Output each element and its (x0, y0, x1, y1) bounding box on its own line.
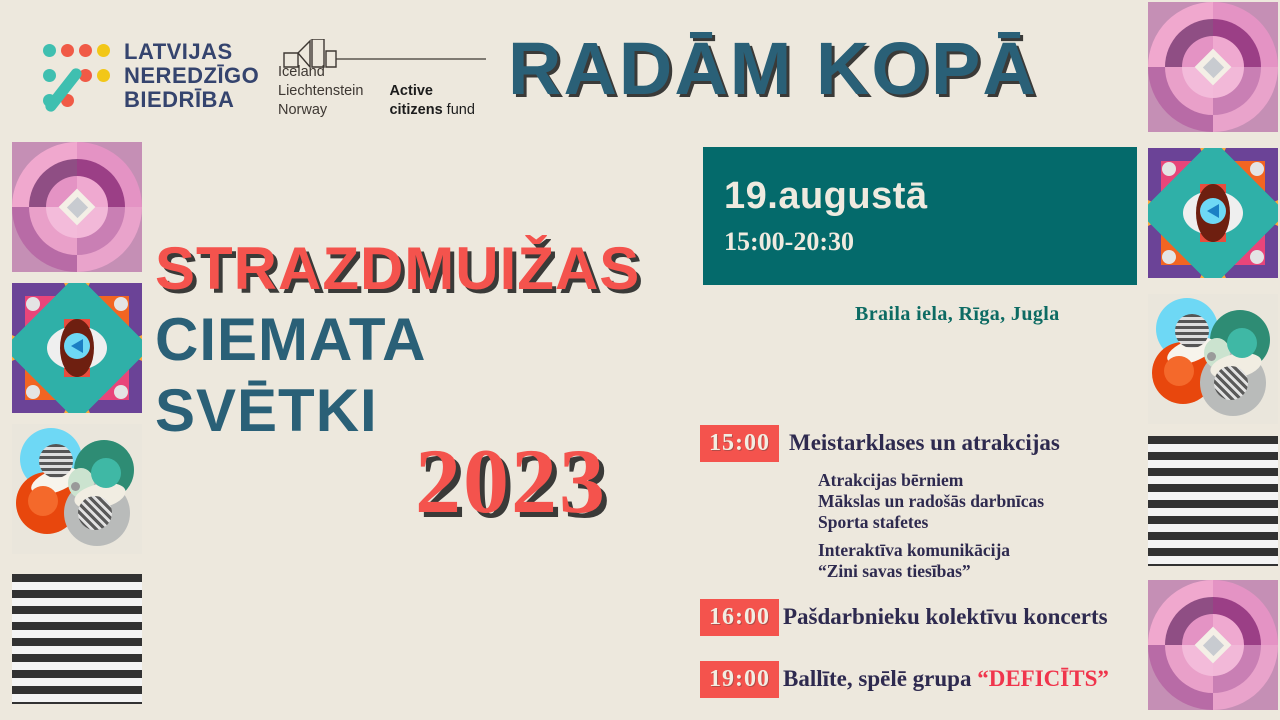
logo-wordmark-line3: BIEDRĪBA (124, 88, 259, 112)
schedule-item-1500: 15:00 Meistarklases un atrakcijas Atrakc… (700, 425, 1155, 582)
logo-wordmark-line1: LATVIJAS (124, 40, 259, 64)
logo-dot (97, 69, 110, 82)
play-triangle-icon (71, 339, 83, 353)
decor-tile-eye-left-1 (12, 283, 142, 413)
fund-name-fund: fund (443, 102, 475, 118)
decor-tile-zigzag-left-1 (12, 574, 142, 704)
decor-tile-pink-petal-left-1 (12, 142, 142, 272)
funder-country-norway: Norway (278, 101, 363, 120)
poster-canvas: LATVIJAS NEREDZĪGO BIEDRĪBA Iceland Liec… (0, 0, 1280, 720)
schedule-time-badge: 19:00 (700, 661, 779, 698)
acf-mountain-icon (282, 39, 487, 69)
schedule-item-1900: 19:00 Ballīte, spēlē grupa “DEFICĪTS” (700, 661, 1155, 698)
decor-tile-pink-petal-right-1 (1148, 2, 1278, 132)
latvijas-neredzigo-biedriba-logo: LATVIJAS NEREDZĪGO BIEDRĪBA (40, 38, 259, 113)
decor-tile-eye-right-1 (1148, 148, 1278, 278)
schedule-band-name: “DEFICĪTS” (977, 666, 1109, 691)
event-venue: Braila iela, Rīga, Jugla (855, 303, 1060, 326)
schedule-time-badge: 16:00 (700, 599, 779, 636)
headline-line-3: SVĒTKI (155, 376, 378, 445)
schedule-item-1600: 16:00 Pašdarbnieku kolektīvu koncerts (700, 599, 1155, 636)
schedule-sub-items: Atrakcijas bērniem Mākslas un radošās da… (818, 470, 1155, 582)
campaign-title: RADĀM KOPĀ (508, 26, 1038, 111)
schedule-sub-item: Mākslas un radošās darbnīcas (818, 491, 1155, 512)
funder-country-liechtenstein: Liechtenstein (278, 82, 363, 101)
schedule-item-title: Ballīte, spēlē grupa “DEFICĪTS” (783, 666, 1109, 692)
logo-dot (43, 44, 56, 57)
logo-dot (43, 69, 56, 82)
headline-line-1: STRAZDMUIŽAS (155, 234, 640, 303)
decor-tile-venn-left-1 (12, 424, 142, 554)
logo-dot (61, 44, 74, 57)
play-triangle-icon (1207, 204, 1219, 218)
schedule-title-text: Ballīte, spēlē grupa (783, 666, 977, 691)
funder-countries: Iceland Liechtenstein Norway (278, 63, 363, 120)
event-time-range: 15:00-20:30 (724, 227, 854, 257)
logo-dot-empty (79, 94, 92, 107)
schedule-sub-item: Atrakcijas bērniem (818, 470, 1155, 491)
logo-wordmark: LATVIJAS NEREDZĪGO BIEDRĪBA (124, 40, 259, 112)
headline-line-2: CIEMATA (155, 305, 426, 374)
sub-items-gap (818, 533, 1155, 540)
logo-dots-grid (40, 38, 112, 113)
decor-tile-pink-petal-right-2 (1148, 580, 1278, 710)
logo-dot (97, 44, 110, 57)
fund-name-active: Active (389, 83, 433, 99)
event-date: 19.augustā (724, 175, 928, 218)
active-citizens-fund-logo: Iceland Liechtenstein Norway Active citi… (278, 45, 475, 120)
logo-dot (79, 44, 92, 57)
schedule-item-title: Meistarklases un atrakcijas (789, 430, 1060, 456)
schedule-sub-item: “Zini savas tiesības” (818, 561, 1155, 582)
event-date-panel: 19.augustā 15:00-20:30 (703, 147, 1137, 285)
decor-tile-zigzag-right-1 (1148, 436, 1278, 566)
schedule-list: 15:00 Meistarklases un atrakcijas Atrakc… (700, 425, 1155, 698)
schedule-sub-item: Sporta stafetes (818, 512, 1155, 533)
logo-dot-empty (97, 94, 110, 107)
schedule-sub-item: Interaktīva komunikācija (818, 540, 1155, 561)
funder-fund-name: Active citizens fund (389, 63, 474, 120)
schedule-time-badge: 15:00 (700, 425, 779, 462)
logo-wordmark-line2: NEREDZĪGO (124, 64, 259, 88)
fund-name-citizens: citizens (389, 102, 442, 118)
decor-tile-venn-right-1 (1148, 294, 1278, 424)
headline-year: 2023 (415, 428, 607, 534)
schedule-item-title: Pašdarbnieku kolektīvu koncerts (783, 604, 1108, 630)
